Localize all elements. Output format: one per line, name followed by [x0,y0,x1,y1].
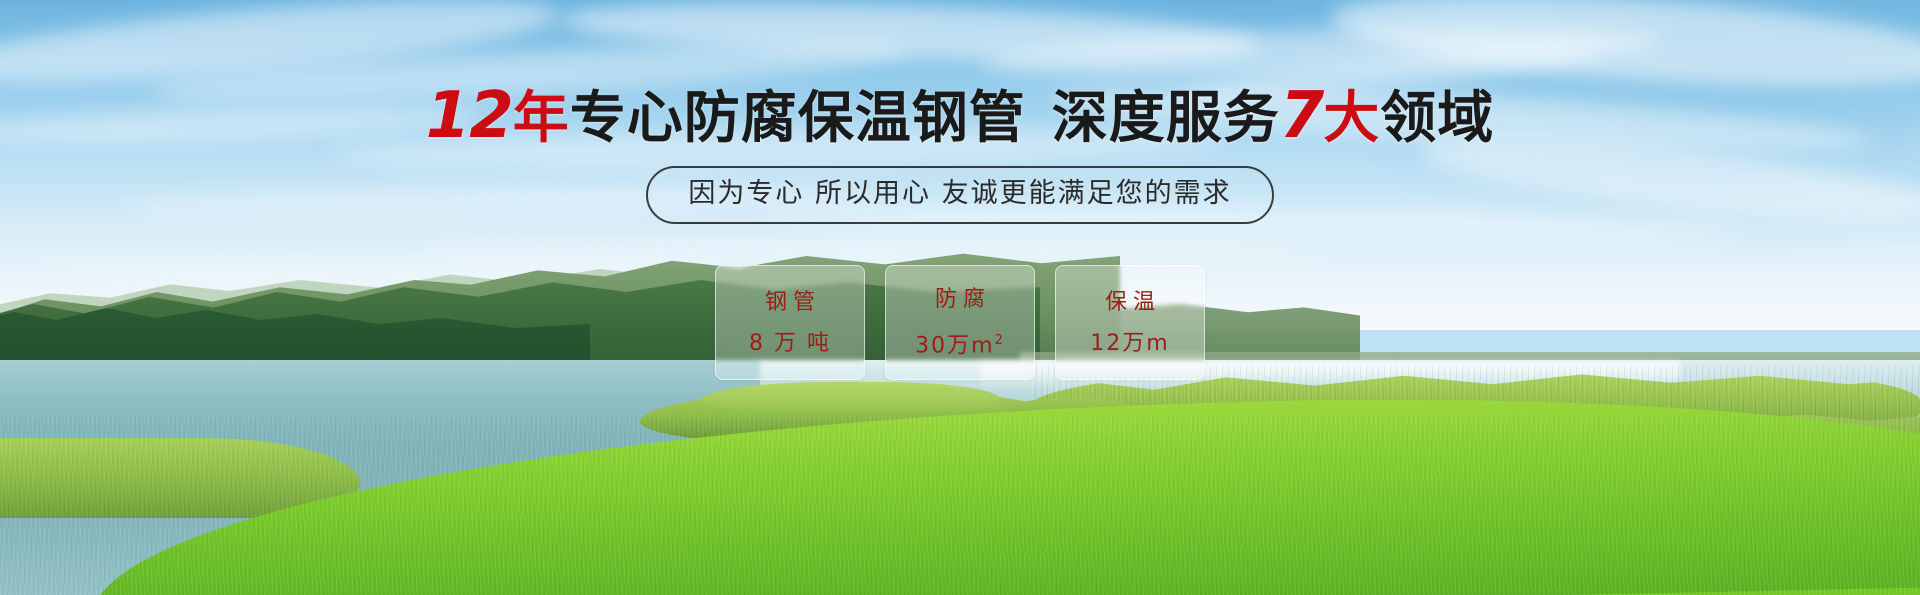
stat-card-value: 30万m2 [915,327,1005,360]
stat-card-list: 钢管 8 万 吨 防腐 30万m2 保温 12万m [0,265,1920,380]
hero-banner: 12年专心防腐保温钢管深度服务7大领域 因为专心 所以用心 友诚更能满足您的需求… [0,0,1920,595]
banner-subtitle-pill: 因为专心 所以用心 友诚更能满足您的需求 [646,166,1273,224]
stat-card-value: 8 万 吨 [749,330,831,358]
stat-card-value-text: 12万m [1090,331,1169,356]
headline-segment-1: 专心防腐保温钢管 [570,86,1026,151]
stat-card-label: 保温 [1099,288,1161,318]
headline-years-number: 12 [426,79,513,153]
stat-card: 钢管 8 万 吨 [715,265,865,380]
banner-headline: 12年专心防腐保温钢管深度服务7大领域 [0,84,1920,151]
stat-card: 保温 12万m [1055,265,1205,380]
stat-card: 防腐 30万m2 [885,265,1035,380]
headline-count-number: 7 [1280,79,1324,153]
stat-card-label: 防腐 [929,285,991,315]
stat-card-label: 钢管 [759,288,821,318]
stat-card-value-text: 30万m [915,333,994,358]
headline-count-unit: 大 [1323,86,1380,151]
banner-subtitle-wrap: 因为专心 所以用心 友诚更能满足您的需求 [0,166,1920,224]
headline-segment-3: 领域 [1380,86,1494,151]
stat-card-value: 12万m [1090,330,1169,358]
banner-content: 12年专心防腐保温钢管深度服务7大领域 因为专心 所以用心 友诚更能满足您的需求… [0,0,1920,595]
stat-card-value-superscript: 2 [995,333,1005,348]
headline-years-unit: 年 [513,86,570,151]
headline-segment-2: 深度服务 [1052,86,1280,151]
stat-card-value-text: 8 万 吨 [749,331,831,356]
